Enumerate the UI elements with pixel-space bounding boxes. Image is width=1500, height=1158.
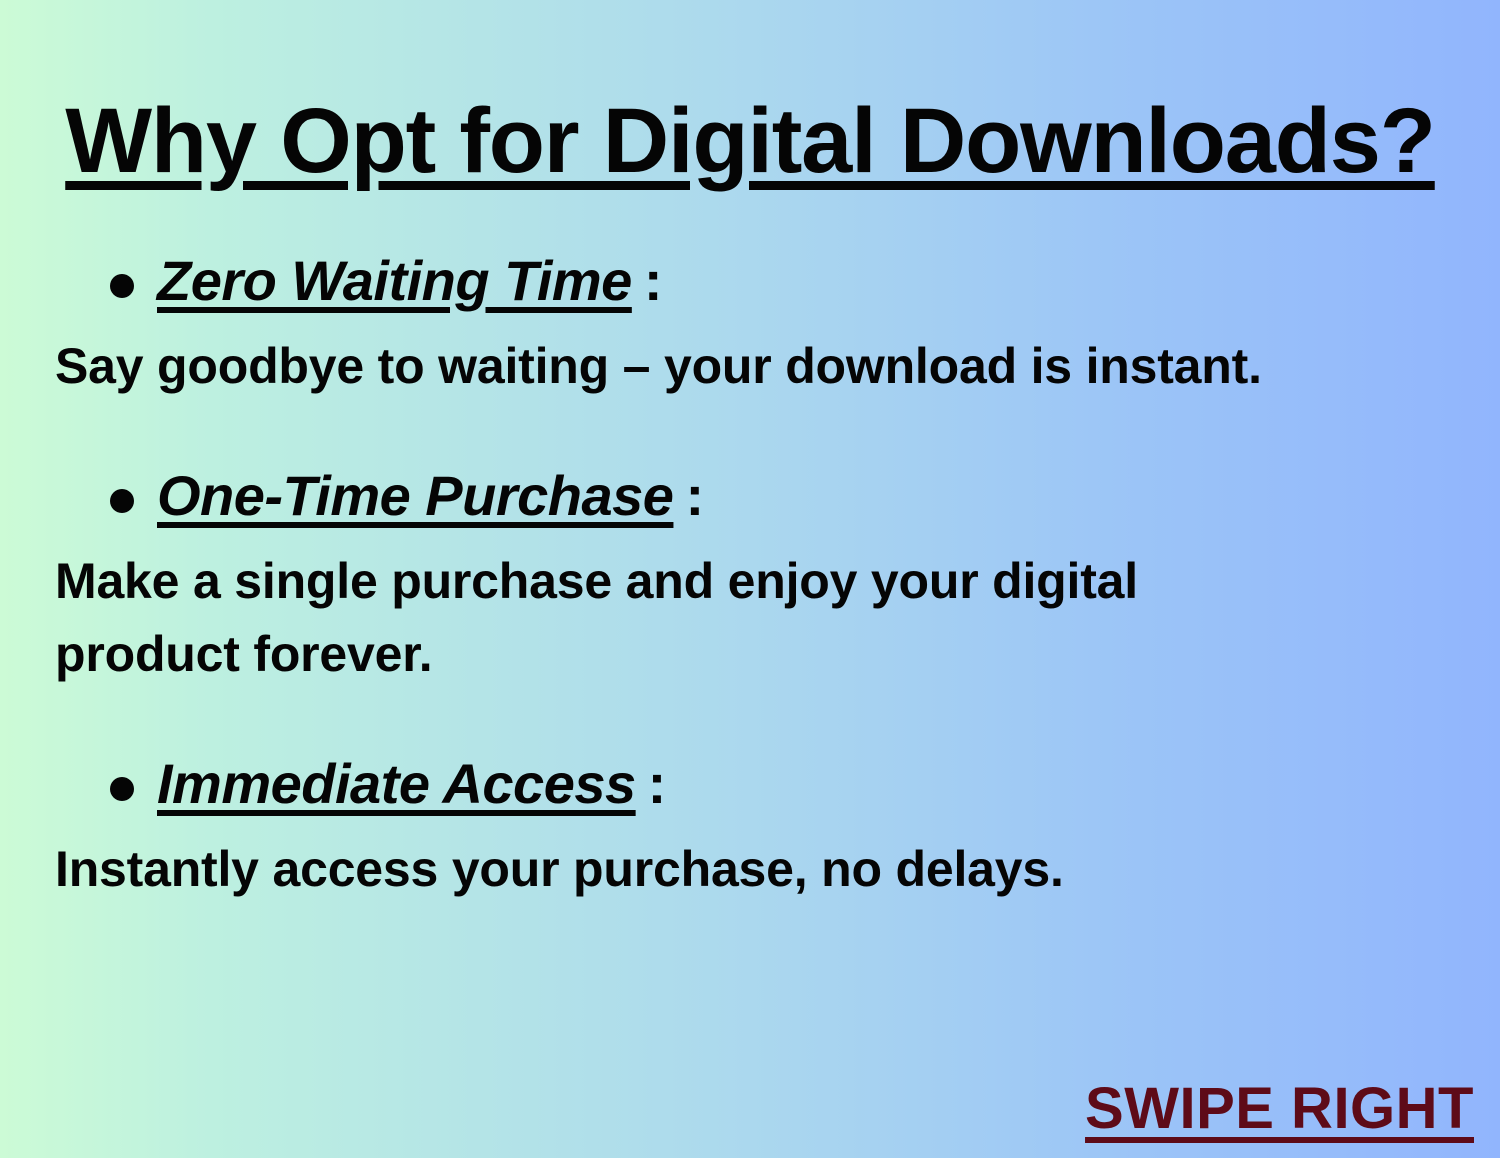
bullet-body-text: Say goodbye to waiting – your download i… — [55, 330, 1285, 403]
bullet-list: Zero Waiting Time: Say goodbye to waitin… — [0, 248, 1500, 906]
bullet-heading-row: Immediate Access: — [55, 751, 1445, 817]
bullet-heading: One-Time Purchase: — [157, 463, 704, 529]
bullet-dot-icon — [110, 777, 134, 801]
swipe-right-label[interactable]: SWIPE RIGHT — [1085, 1075, 1474, 1142]
bullet-heading-row: One-Time Purchase: — [55, 463, 1445, 529]
bullet-keyword: Immediate Access — [157, 752, 636, 815]
bullet-item-zero-waiting-time: Zero Waiting Time: Say goodbye to waitin… — [55, 248, 1445, 403]
bullet-item-one-time-purchase: One-Time Purchase: Make a single purchas… — [55, 463, 1445, 691]
bullet-colon: : — [673, 464, 703, 527]
bullet-colon: : — [636, 752, 666, 815]
bullet-body-text: Instantly access your purchase, no delay… — [55, 833, 1285, 906]
bullet-keyword: Zero Waiting Time — [157, 249, 632, 312]
bullet-dot-icon — [110, 274, 134, 298]
bullet-keyword: One-Time Purchase — [157, 464, 673, 527]
bullet-item-immediate-access: Immediate Access: Instantly access your … — [55, 751, 1445, 906]
bullet-heading: Zero Waiting Time: — [157, 248, 662, 314]
bullet-heading-row: Zero Waiting Time: — [55, 248, 1445, 314]
bullet-colon: : — [632, 249, 662, 312]
title-block: Why Opt for Digital Downloads? — [0, 30, 1500, 253]
bullet-dot-icon — [110, 489, 134, 513]
footer: SWIPE RIGHT — [1085, 1075, 1474, 1142]
page-title: Why Opt for Digital Downloads? — [65, 92, 1434, 191]
slide-canvas: Why Opt for Digital Downloads? Zero Wait… — [0, 0, 1500, 1158]
bullet-heading: Immediate Access: — [157, 751, 666, 817]
bullet-body-text: Make a single purchase and enjoy your di… — [55, 545, 1285, 691]
